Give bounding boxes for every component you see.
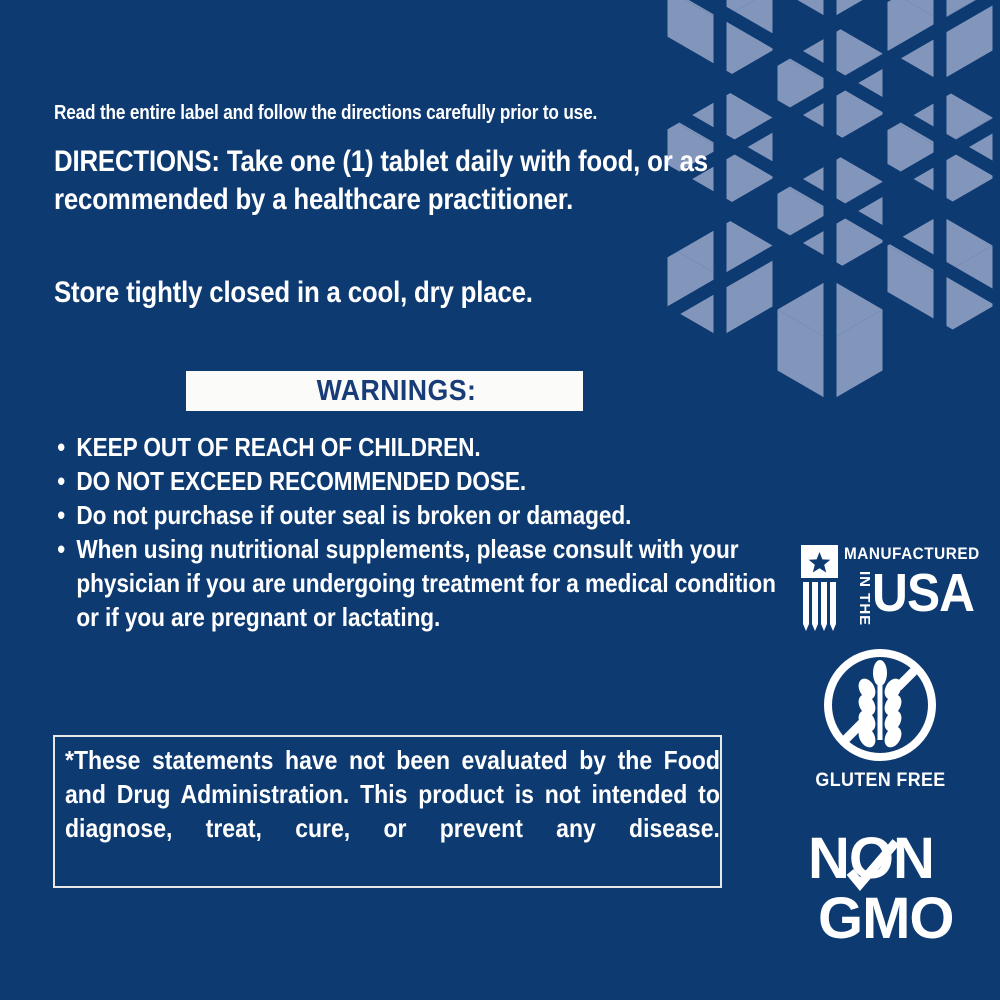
read-label-instruction: Read the entire label and follow the dir… [54,101,794,125]
bullet-icon: • [57,498,65,532]
warnings-list: • KEEP OUT OF REACH OF CHILDREN. • DO NO… [52,430,772,634]
usa-badge-line3: USA [872,565,974,621]
manufactured-in-usa-badge: MANUFACTURED IN THE USA [796,540,966,632]
usa-badge-line2: IN THE [851,571,873,627]
supplement-label-panel: Read the entire label and follow the dir… [0,0,1000,1000]
bullet-icon: • [57,430,65,464]
warnings-title: WARNINGS: [202,374,567,408]
storage-instruction: Store tightly closed in a cool, dry plac… [54,274,768,312]
directions-heading: DIRECTIONS: [54,145,220,178]
directions-paragraph: DIRECTIONS: Take one (1) tablet daily wi… [54,143,768,219]
gluten-free-label: GLUTEN FREE [812,770,948,792]
fda-disclaimer-text: *These statements have not been evaluate… [65,743,720,879]
list-item-label: When using nutritional supplements, plea… [76,534,775,632]
fda-disclaimer-box: *These statements have not been evaluate… [53,735,722,888]
gluten-free-icon [808,648,953,766]
list-item: • Do not purchase if outer seal is broke… [52,498,790,532]
non-gmo-icon: NON GMO [800,830,960,950]
list-item: • DO NOT EXCEED RECOMMENDED DOSE. [52,464,790,498]
list-item-label: DO NOT EXCEED RECOMMENDED DOSE. [76,466,526,496]
list-item: • When using nutritional supplements, pl… [52,532,790,634]
warnings-banner: WARNINGS: [186,371,583,411]
list-item-label: Do not purchase if outer seal is broken … [76,500,631,530]
bullet-icon: • [57,532,65,566]
list-item: • KEEP OUT OF REACH OF CHILDREN. [52,430,790,464]
gluten-free-badge: GLUTEN FREE [808,648,953,798]
usa-badge-line1: MANUFACTURED [844,544,980,564]
bullet-icon: • [57,464,65,498]
non-gmo-badge: NON GMO [800,830,960,950]
non-gmo-line2: GMO [818,886,954,950]
list-item-label: KEEP OUT OF REACH OF CHILDREN. [76,432,480,462]
